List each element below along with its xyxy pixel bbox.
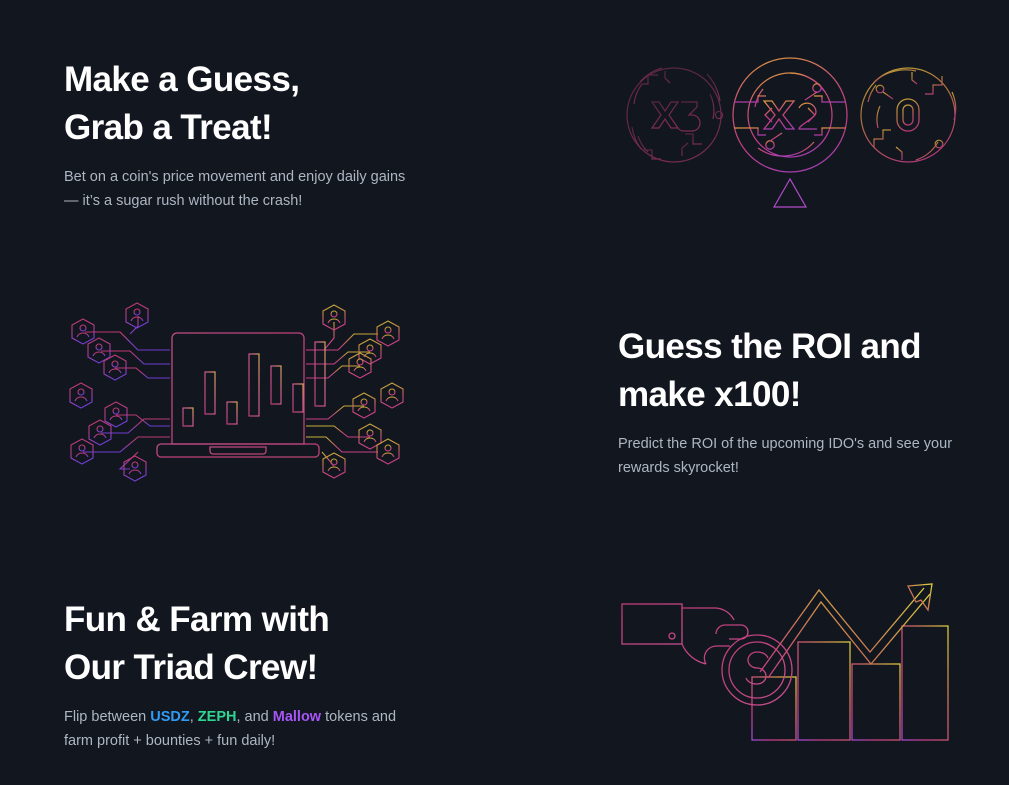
badge-zero-label <box>897 99 919 131</box>
bar-1 <box>752 677 796 740</box>
section-2-subtext: Predict the ROI of the upcoming IDO's an… <box>618 433 968 480</box>
section-guess-roi-text: Guess the ROI and make x100! Predict the… <box>618 323 968 480</box>
section-1-subtext-line-2: — it’s a sugar rush without the crash! <box>64 190 494 214</box>
candle <box>293 376 303 418</box>
candle <box>315 336 325 414</box>
section-2-heading-line-2: make x100! <box>618 371 968 419</box>
multiplier-badges-illustration <box>612 32 982 222</box>
subtext-suffix: tokens and <box>321 709 396 725</box>
section-3-subtext-line-1: Flip between USDZ, ZEPH, and Mallow toke… <box>64 706 464 730</box>
bar-4 <box>902 626 948 740</box>
section-2-subtext-line-1: Predict the ROI of the upcoming IDO's an… <box>618 433 968 457</box>
dollar-coin <box>722 635 792 705</box>
bar-3 <box>852 664 900 740</box>
growth-arrow <box>760 584 932 678</box>
hand <box>682 608 748 664</box>
laptop-network-illustration <box>58 306 418 486</box>
subtext-prefix: Flip between <box>64 709 150 725</box>
hex-avatar <box>126 303 148 328</box>
section-1-heading-line-2: Grab a Treat! <box>64 104 494 152</box>
section-2-heading-line-1: Guess the ROI and <box>618 323 968 371</box>
token-separator-2: , and <box>236 709 272 725</box>
section-1-subtext: Bet on a coin's price movement and enjoy… <box>64 166 494 213</box>
badge-x3 <box>627 68 723 162</box>
section-3-heading-line-1: Fun & Farm with <box>64 596 464 644</box>
section-3-subtext-line-2: farm profit + bounties + fun daily! <box>64 730 464 754</box>
candle <box>227 394 237 428</box>
candle <box>249 346 259 426</box>
token-separator-1: , <box>190 709 198 725</box>
section-3-heading: Fun & Farm with Our Triad Crew! <box>64 596 464 692</box>
section-1-heading: Make a Guess, Grab a Treat! <box>64 56 494 152</box>
hex-avatar <box>323 453 345 478</box>
feature-page: Make a Guess, Grab a Treat! Bet on a coi… <box>0 0 1009 785</box>
section-2-subtext-line-2: rewards skyrocket! <box>618 457 968 481</box>
bar-2 <box>798 642 850 740</box>
candle <box>183 401 193 433</box>
hand-coin-growth-chart-illustration <box>612 572 982 762</box>
section-make-a-guess-text: Make a Guess, Grab a Treat! Bet on a coi… <box>64 56 494 213</box>
section-3-heading-line-2: Our Triad Crew! <box>64 644 464 692</box>
hex-avatar <box>377 439 399 464</box>
section-1-subtext-line-1: Bet on a coin's price movement and enjoy… <box>64 166 494 190</box>
laptop-body <box>157 333 319 457</box>
candle <box>205 364 215 424</box>
badge-zero <box>861 68 956 162</box>
hex-avatar <box>377 321 399 346</box>
section-2-heading: Guess the ROI and make x100! <box>618 323 968 419</box>
section-1-heading-line-1: Make a Guess, <box>64 56 494 104</box>
token-mallow: Mallow <box>273 709 321 725</box>
badge-x3-label <box>652 102 700 131</box>
sleeve-cuff <box>622 604 682 644</box>
section-3-subtext: Flip between USDZ, ZEPH, and Mallow toke… <box>64 706 464 753</box>
token-usdz: USDZ <box>150 709 189 725</box>
pointer-triangle <box>774 179 806 207</box>
candle <box>271 358 281 411</box>
token-zeph: ZEPH <box>198 709 237 725</box>
section-fun-farm-text: Fun & Farm with Our Triad Crew! Flip bet… <box>64 596 464 753</box>
